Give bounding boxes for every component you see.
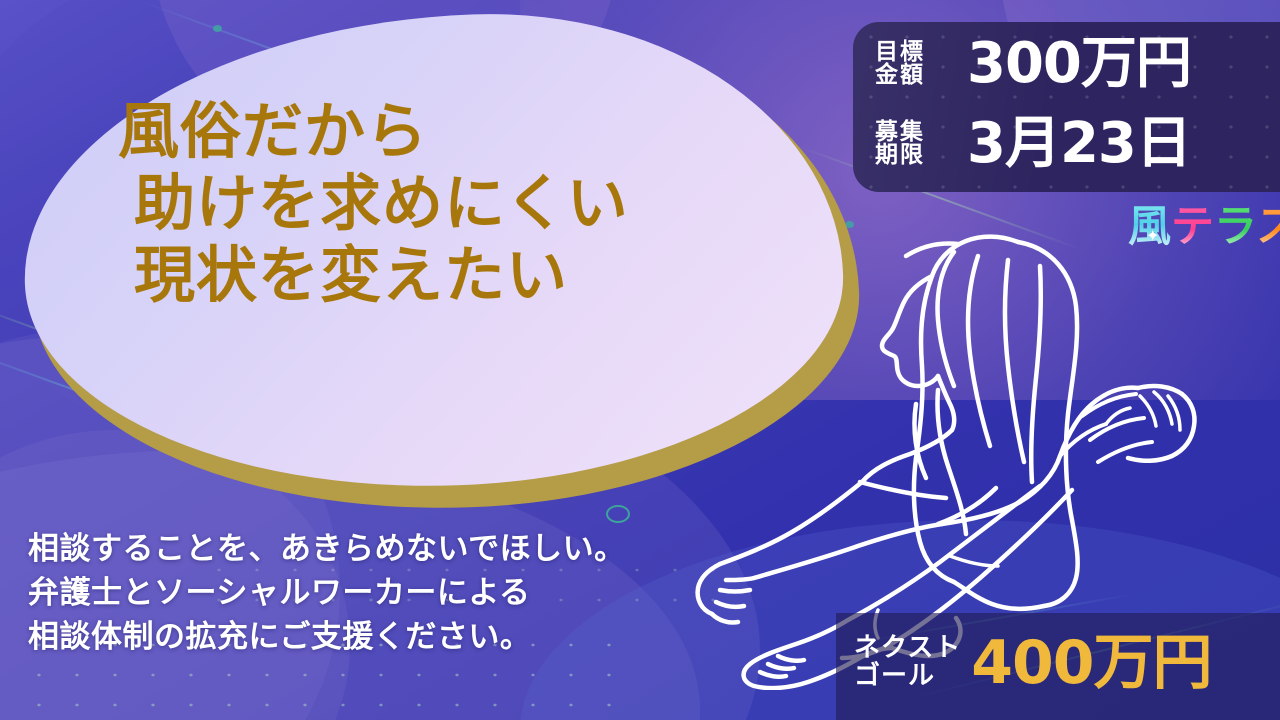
goal-amount-label: 目標 金額 <box>875 41 953 88</box>
headline-line-1: 風俗だから <box>118 96 818 168</box>
deadline-value: 3月23日 <box>967 116 1191 172</box>
deadline-label-top: 募集 <box>875 121 953 144</box>
logo-char-te: テ <box>1171 202 1214 252</box>
next-goal-value: 400万円 <box>971 633 1211 693</box>
goal-amount-value: 300万円 <box>967 36 1191 92</box>
lead-line-2: 弁護士とソーシャルワーカーによる <box>28 571 626 615</box>
deadline-row: 募集 期限 3月23日 <box>875 116 1191 172</box>
sparkle-icon: ✦ <box>1146 228 1159 244</box>
goal-amount-row: 目標 金額 300万円 <box>875 36 1191 92</box>
banner-stage: 風俗だから 助けを求めにくい 現状を変えたい 相談することを、あきらめないでほし… <box>0 0 1280 720</box>
next-goal-label: ネクスト ゴール <box>854 635 961 690</box>
next-goal-label-top: ネクスト <box>854 635 961 663</box>
logo-char-ra: ラ <box>1214 202 1256 252</box>
lead-paragraph: 相談することを、あきらめないでほしい。 弁護士とソーシャルワーカーによる 相談体… <box>28 527 626 659</box>
campaign-info-panel: 目標 金額 300万円 募集 期限 3月23日 <box>853 22 1280 192</box>
next-goal-label-bottom: ゴール <box>854 663 961 691</box>
next-goal-panel: ネクスト ゴール 400万円 <box>836 613 1280 720</box>
lead-line-1: 相談することを、あきらめないでほしい。 <box>28 527 626 571</box>
lead-line-3: 相談体制の拡充にご支援ください。 <box>28 615 626 659</box>
headline-line-2: 助けを求めにくい <box>118 168 818 240</box>
headline-line-3: 現状を変えたい <box>118 240 818 312</box>
deadline-label: 募集 期限 <box>875 121 953 168</box>
logo-char-su: ス <box>1256 202 1280 252</box>
page-title: 風俗だから 助けを求めにくい 現状を変えたい <box>118 96 818 312</box>
deadline-label-bottom: 期限 <box>875 144 953 167</box>
goal-amount-label-top: 目標 <box>875 41 953 64</box>
goal-amount-label-bottom: 金額 <box>875 64 953 87</box>
futeras-logo: 風テラス ✦ <box>1128 206 1280 249</box>
next-goal-row: ネクスト ゴール 400万円 <box>854 633 1211 693</box>
